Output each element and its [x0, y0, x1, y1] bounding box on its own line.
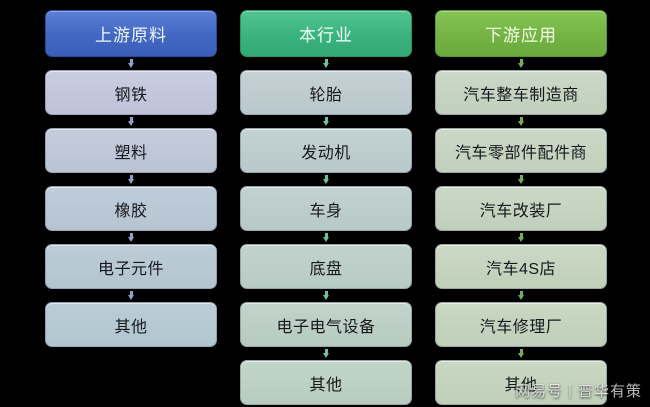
arrow-down-icon	[128, 291, 135, 300]
chain-node[interactable]: 汽车修理厂	[435, 302, 607, 347]
connector-arrow	[45, 289, 217, 302]
chain-node[interactable]: 钢铁	[45, 70, 217, 115]
connector-arrow	[435, 57, 607, 70]
connector-arrow	[45, 115, 217, 128]
chain-node[interactable]: 其他	[240, 360, 412, 405]
chain-column-upstream: 上游原料 钢铁 塑料 橡胶 电子元件 其他	[45, 0, 217, 407]
connector-arrow	[435, 115, 607, 128]
column-header-industry: 本行业	[240, 10, 412, 57]
chain-node[interactable]: 塑料	[45, 128, 217, 173]
connector-arrow	[240, 173, 412, 186]
connector-arrow	[45, 173, 217, 186]
arrow-down-icon	[518, 175, 525, 184]
chain-node[interactable]: 轮胎	[240, 70, 412, 115]
chain-node[interactable]: 其他	[435, 360, 607, 405]
connector-arrow	[240, 231, 412, 244]
chain-node[interactable]: 发动机	[240, 128, 412, 173]
chain-node[interactable]: 底盘	[240, 244, 412, 289]
arrow-down-icon	[128, 233, 135, 242]
arrow-down-icon	[323, 117, 330, 126]
connector-arrow	[435, 231, 607, 244]
arrow-down-icon	[518, 233, 525, 242]
chain-node[interactable]: 汽车零部件配件商	[435, 128, 607, 173]
arrow-down-icon	[518, 291, 525, 300]
column-header-downstream: 下游应用	[435, 10, 607, 57]
industry-chain-diagram: 上游原料 钢铁 塑料 橡胶 电子元件 其他 本行业 轮胎 发动机 车身 底盘 电…	[0, 0, 650, 407]
arrow-down-icon	[323, 59, 330, 68]
chain-node[interactable]: 橡胶	[45, 186, 217, 231]
connector-arrow	[240, 115, 412, 128]
column-header-upstream: 上游原料	[45, 10, 217, 57]
arrow-down-icon	[518, 117, 525, 126]
chain-node[interactable]: 其他	[45, 302, 217, 347]
arrow-down-icon	[323, 349, 330, 358]
chain-node[interactable]: 汽车4S店	[435, 244, 607, 289]
chain-node[interactable]: 电子电气设备	[240, 302, 412, 347]
connector-arrow	[240, 57, 412, 70]
chain-node[interactable]: 车身	[240, 186, 412, 231]
connector-arrow	[45, 231, 217, 244]
arrow-down-icon	[128, 117, 135, 126]
arrow-down-icon	[518, 349, 525, 358]
connector-arrow	[435, 173, 607, 186]
chain-node[interactable]: 汽车改装厂	[435, 186, 607, 231]
arrow-down-icon	[323, 175, 330, 184]
arrow-down-icon	[128, 175, 135, 184]
chain-node[interactable]: 电子元件	[45, 244, 217, 289]
arrow-down-icon	[323, 291, 330, 300]
chain-column-downstream: 下游应用 汽车整车制造商 汽车零部件配件商 汽车改装厂 汽车4S店 汽车修理厂 …	[435, 0, 607, 407]
arrow-down-icon	[323, 233, 330, 242]
chain-node[interactable]: 汽车整车制造商	[435, 70, 607, 115]
arrow-down-icon	[518, 59, 525, 68]
connector-arrow	[435, 289, 607, 302]
connector-arrow	[45, 57, 217, 70]
connector-arrow	[240, 347, 412, 360]
connector-arrow	[435, 347, 607, 360]
chain-column-industry: 本行业 轮胎 发动机 车身 底盘 电子电气设备 其他	[240, 0, 412, 407]
connector-arrow	[240, 289, 412, 302]
arrow-down-icon	[128, 59, 135, 68]
